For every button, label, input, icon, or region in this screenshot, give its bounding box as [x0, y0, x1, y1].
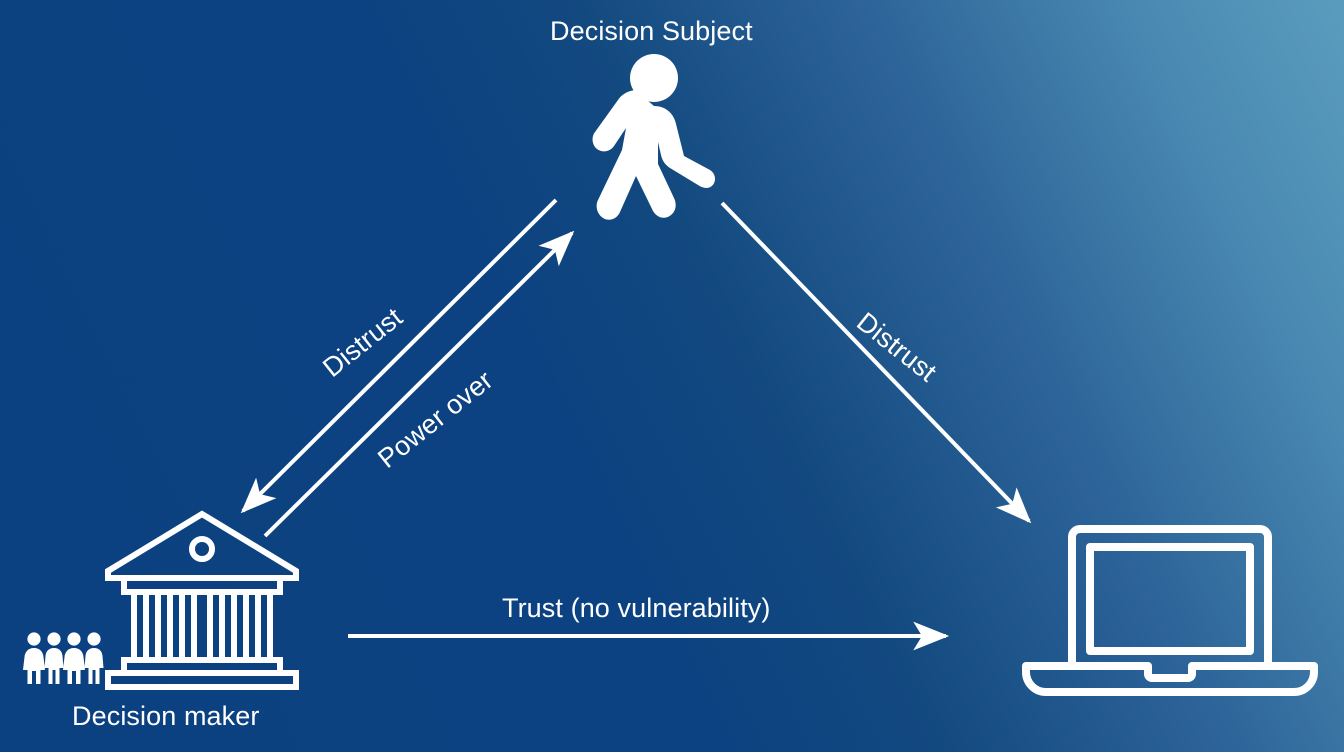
walking-person-icon	[592, 52, 716, 232]
node-label-decision-maker: Decision maker	[72, 702, 259, 732]
edge-power-over	[265, 233, 572, 536]
edge-label-distrust-right: Distrust	[851, 307, 942, 388]
edge-label-power-over: Power over	[373, 366, 499, 475]
edge-label-trust: Trust (no vulnerability)	[502, 594, 770, 624]
laptop-icon	[1020, 520, 1320, 700]
edge-label-distrust-left: Distrust	[318, 303, 409, 384]
group-of-people-icon	[20, 630, 106, 686]
diagram-canvas: Decision Subject Decision maker Distrust…	[0, 0, 1344, 752]
institution-building-icon	[100, 507, 305, 692]
node-label-decision-subject: Decision Subject	[550, 17, 753, 47]
edge-distrust-right	[722, 203, 1029, 521]
